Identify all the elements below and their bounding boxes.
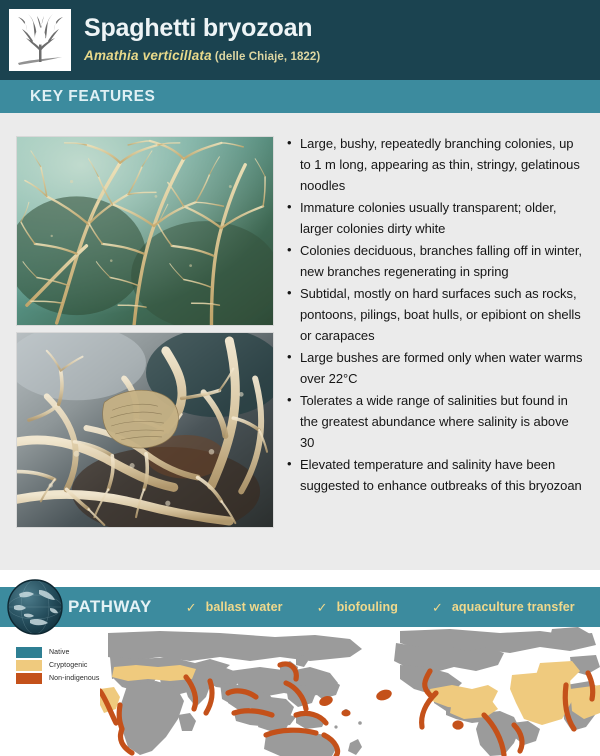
pathway-item-ballast-water: ✓ ballast water	[186, 600, 283, 614]
legend-swatch-native	[16, 647, 42, 658]
legend-swatch-cryptogenic	[16, 660, 42, 671]
list-item: Tolerates a wide range of salinities but…	[286, 390, 586, 453]
legend-label: Non-indigenous	[49, 675, 99, 682]
key-features-bullet-list: Large, bushy, repeatedly branching colon…	[286, 133, 586, 497]
list-item: Immature colonies usually transparent; o…	[286, 197, 586, 239]
globe-icon	[6, 578, 64, 636]
pathway-label: PATHWAY	[68, 597, 152, 617]
legend-label: Native	[49, 649, 69, 656]
name-authority: (delle Chiaje, 1822)	[215, 51, 321, 63]
key-features-content: Large, bushy, repeatedly branching colon…	[0, 113, 600, 570]
legend-label: Cryptogenic	[49, 662, 87, 669]
pathway-item-label: ballast water	[206, 600, 283, 614]
world-distribution-map: Native Cryptogenic Non-indigenous	[0, 627, 600, 756]
list-item: Colonies deciduous, branches falling off…	[286, 240, 586, 282]
check-icon: ✓	[186, 601, 197, 614]
list-item: Large, bushy, repeatedly branching colon…	[286, 133, 586, 196]
pathway-item-aquaculture-transfer: ✓ aquaculture transfer	[432, 600, 575, 614]
pathway-item-biofouling: ✓ biofouling	[317, 600, 398, 614]
key-features-band: KEY FEATURES	[0, 80, 600, 113]
pathway-item-label: aquaculture transfer	[452, 600, 575, 614]
scientific-name: Amathia verticillata	[84, 48, 212, 63]
species-fact-sheet: Spaghetti bryozoan Amathia verticillata(…	[0, 0, 600, 756]
page-title: Spaghetti bryozoan	[84, 13, 320, 43]
pathway-item-label: biofouling	[337, 600, 398, 614]
header-titles: Spaghetti bryozoan Amathia verticillata(…	[84, 13, 320, 68]
legend-swatch-non-indigenous	[16, 673, 42, 684]
legend-item-cryptogenic: Cryptogenic	[16, 660, 99, 671]
list-item: Subtidal, mostly on hard surfaces such a…	[286, 283, 586, 346]
legend-item-native: Native	[16, 647, 99, 658]
scientific-name-line: Amathia verticillata(delle Chiaje, 1822)	[84, 47, 320, 66]
legend-item-non-indigenous: Non-indigenous	[16, 673, 99, 684]
pathway-bar: PATHWAY ✓ ballast water ✓ biofouling ✓ a…	[0, 587, 600, 627]
check-icon: ✓	[432, 601, 443, 614]
bryozoan-branches-closeup-photo	[16, 332, 274, 528]
check-icon: ✓	[317, 601, 328, 614]
pathway-items: ✓ ballast water ✓ biofouling ✓ aquacultu…	[186, 600, 600, 614]
bryozoan-colony-icon	[9, 9, 71, 71]
list-item: Large bushes are formed only when water …	[286, 347, 586, 389]
page-header: Spaghetti bryozoan Amathia verticillata(…	[0, 0, 600, 80]
bryozoan-colony-underwater-photo	[16, 136, 274, 326]
map-legend: Native Cryptogenic Non-indigenous	[16, 647, 99, 686]
key-features-title: KEY FEATURES	[0, 88, 155, 106]
list-item: Elevated temperature and salinity have b…	[286, 454, 586, 496]
